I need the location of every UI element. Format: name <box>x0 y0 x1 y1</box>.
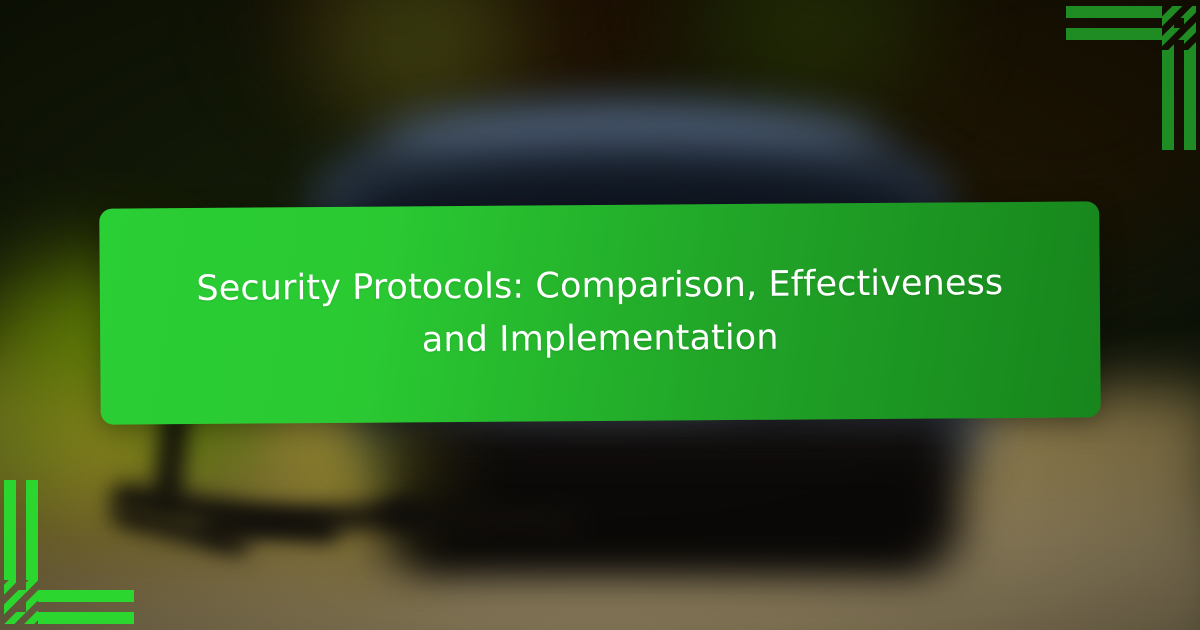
title-banner: Security Protocols: Comparison, Effectiv… <box>99 201 1101 424</box>
corner-bracket-bottom-left-icon <box>0 470 160 630</box>
corner-bracket-top-right-icon <box>1040 0 1200 160</box>
page-title: Security Protocols: Comparison, Effectiv… <box>190 257 1011 369</box>
corner-bracket-top-right <box>1040 0 1200 160</box>
warm-highlight <box>290 415 420 515</box>
corner-bracket-bottom-left <box>0 470 160 630</box>
social-share-card: Security Protocols: Comparison, Effectiv… <box>0 0 1200 630</box>
